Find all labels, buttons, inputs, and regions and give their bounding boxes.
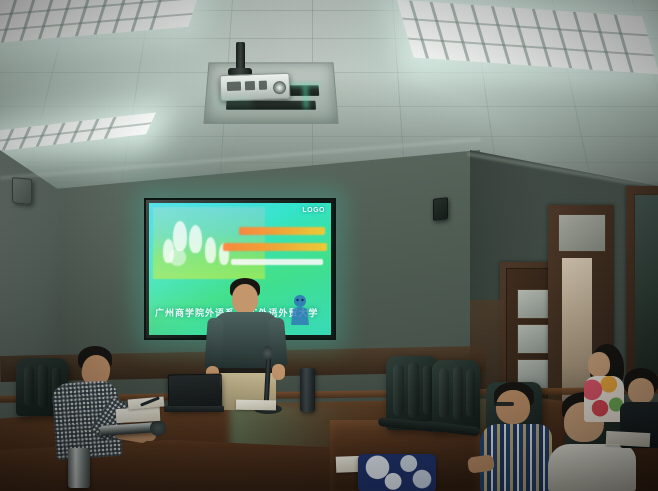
thermos-bottle[interactable] [300, 368, 315, 412]
slide-photo-figure-1 [173, 221, 187, 251]
wall-speaker-left [12, 177, 32, 205]
window-glass [634, 194, 658, 376]
laptop-base [164, 406, 224, 412]
slide-subtitle-text-2 [231, 259, 323, 265]
projector-beam [214, 96, 252, 110]
attendee-floral-back-head [588, 352, 610, 377]
ceiling-light-lower-left [0, 112, 156, 153]
photo-scene: LOGO 广州商学院外语系 广东外语外贸大学 [0, 0, 658, 491]
blue-patterned-bag[interactable] [358, 454, 436, 491]
slide-mascot-icon [287, 293, 313, 327]
gooseneck-microphone-head [262, 346, 273, 360]
ceiling-light-right [397, 0, 658, 74]
attendee-striped-shirt-head [496, 390, 530, 424]
slide-title-text [239, 227, 325, 235]
chair-mid-empty-2[interactable] [432, 360, 480, 432]
slide-photo-figure-2 [189, 225, 202, 253]
papers-3[interactable] [236, 400, 276, 411]
slide-logo-text: LOGO [302, 207, 325, 214]
projector-lens [273, 81, 286, 94]
laptop[interactable] [168, 374, 223, 411]
slide-subtitle-text-1 [223, 243, 327, 251]
slide-photo-figure-4 [205, 237, 216, 263]
presenter-head [232, 284, 258, 314]
papers-5[interactable] [606, 431, 651, 447]
attendee-striped-shirt-glasses [494, 402, 514, 406]
doorway-transom [558, 214, 606, 252]
slide-photo-figure-3 [163, 239, 174, 263]
metal-tumbler[interactable] [68, 448, 90, 488]
attendee-far-right-head [628, 378, 654, 404]
handheld-microphone-head [150, 420, 166, 436]
attendee-floral-back-torso [584, 376, 624, 422]
wall-speaker-right [433, 197, 448, 221]
papers[interactable] [116, 407, 161, 423]
attendee-white-shirt-torso [548, 444, 636, 491]
presenter-hand-right [272, 364, 285, 380]
